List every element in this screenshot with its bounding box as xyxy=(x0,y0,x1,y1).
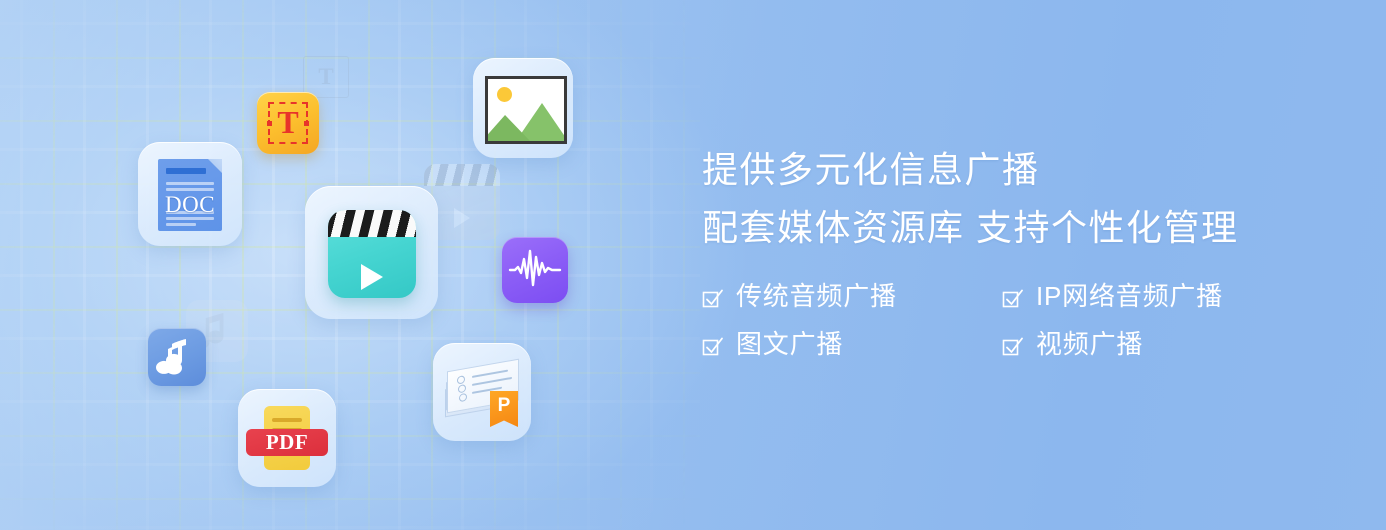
feature-item-image-text-broadcast[interactable]: 图文广播 xyxy=(702,331,1002,357)
checkbox-check-icon xyxy=(702,286,724,308)
feature-label: 传统音频广播 xyxy=(736,283,897,309)
photo-frame xyxy=(485,76,567,144)
checkbox-check-icon xyxy=(702,334,724,356)
clapper-stripes xyxy=(328,210,416,237)
feature-label: 视频广播 xyxy=(1036,331,1143,357)
ppt-text-line xyxy=(472,377,512,386)
checkbox-check-icon xyxy=(1002,334,1024,356)
presentation-file-icon: P xyxy=(433,343,531,441)
ghost-play-triangle xyxy=(454,208,470,228)
clapper-body xyxy=(328,210,416,298)
video-clapperboard-icon xyxy=(305,186,438,319)
sun-shape xyxy=(497,87,512,102)
ghost-clapper-stripes xyxy=(424,164,500,186)
pdf-text-line xyxy=(272,418,302,422)
ppt-bullet-dot xyxy=(458,384,466,393)
doc-text-line xyxy=(166,188,214,191)
media-broadcast-banner: T T DOC xyxy=(0,0,1386,530)
ppt-text-line xyxy=(472,370,508,378)
doc-title-bar xyxy=(166,168,206,174)
doc-fold-corner xyxy=(208,159,222,173)
music-note-icon xyxy=(148,328,206,386)
doc-text-line xyxy=(166,217,214,220)
pdf-file-icon: PDF xyxy=(238,389,336,487)
doc-text-line xyxy=(166,182,214,185)
feature-item-video-broadcast[interactable]: 视频广播 xyxy=(1002,331,1223,357)
text-tool-icon: T xyxy=(257,92,319,154)
play-triangle-icon xyxy=(361,264,383,290)
mountain-shape-front xyxy=(485,115,530,141)
feature-item-ip-network-audio[interactable]: IP网络音频广播 xyxy=(1002,283,1223,309)
doc-label: DOC xyxy=(158,193,222,216)
headline-line-1: 提供多元化信息广播 xyxy=(702,147,1040,192)
feature-label: IP网络音频广播 xyxy=(1036,283,1223,309)
doc-text-line xyxy=(166,223,196,226)
ppt-bullet-dot xyxy=(459,393,467,402)
banner-content: 提供多元化信息广播 配套媒体资源库 支持个性化管理 传统音频广播 xyxy=(700,0,1386,530)
pdf-label: PDF xyxy=(246,429,328,456)
doc-page: DOC xyxy=(158,159,222,231)
ppt-badge-label: P xyxy=(490,391,518,427)
ppt-bullet-dot xyxy=(457,375,465,384)
waveform-svg xyxy=(502,237,568,303)
audio-waveform-icon xyxy=(502,237,568,303)
doc-file-icon: DOC xyxy=(138,142,242,246)
feature-label: 图文广播 xyxy=(736,331,843,357)
music-note-svg xyxy=(148,328,206,386)
t-glyph: T xyxy=(257,106,319,138)
headline-line-2: 配套媒体资源库 支持个性化管理 xyxy=(702,205,1239,250)
checkbox-check-icon xyxy=(1002,286,1024,308)
feature-item-traditional-audio[interactable]: 传统音频广播 xyxy=(702,283,1002,309)
image-file-icon xyxy=(473,58,573,158)
feature-list: 传统音频广播 IP网络音频广播 图文广播 xyxy=(702,283,1223,357)
